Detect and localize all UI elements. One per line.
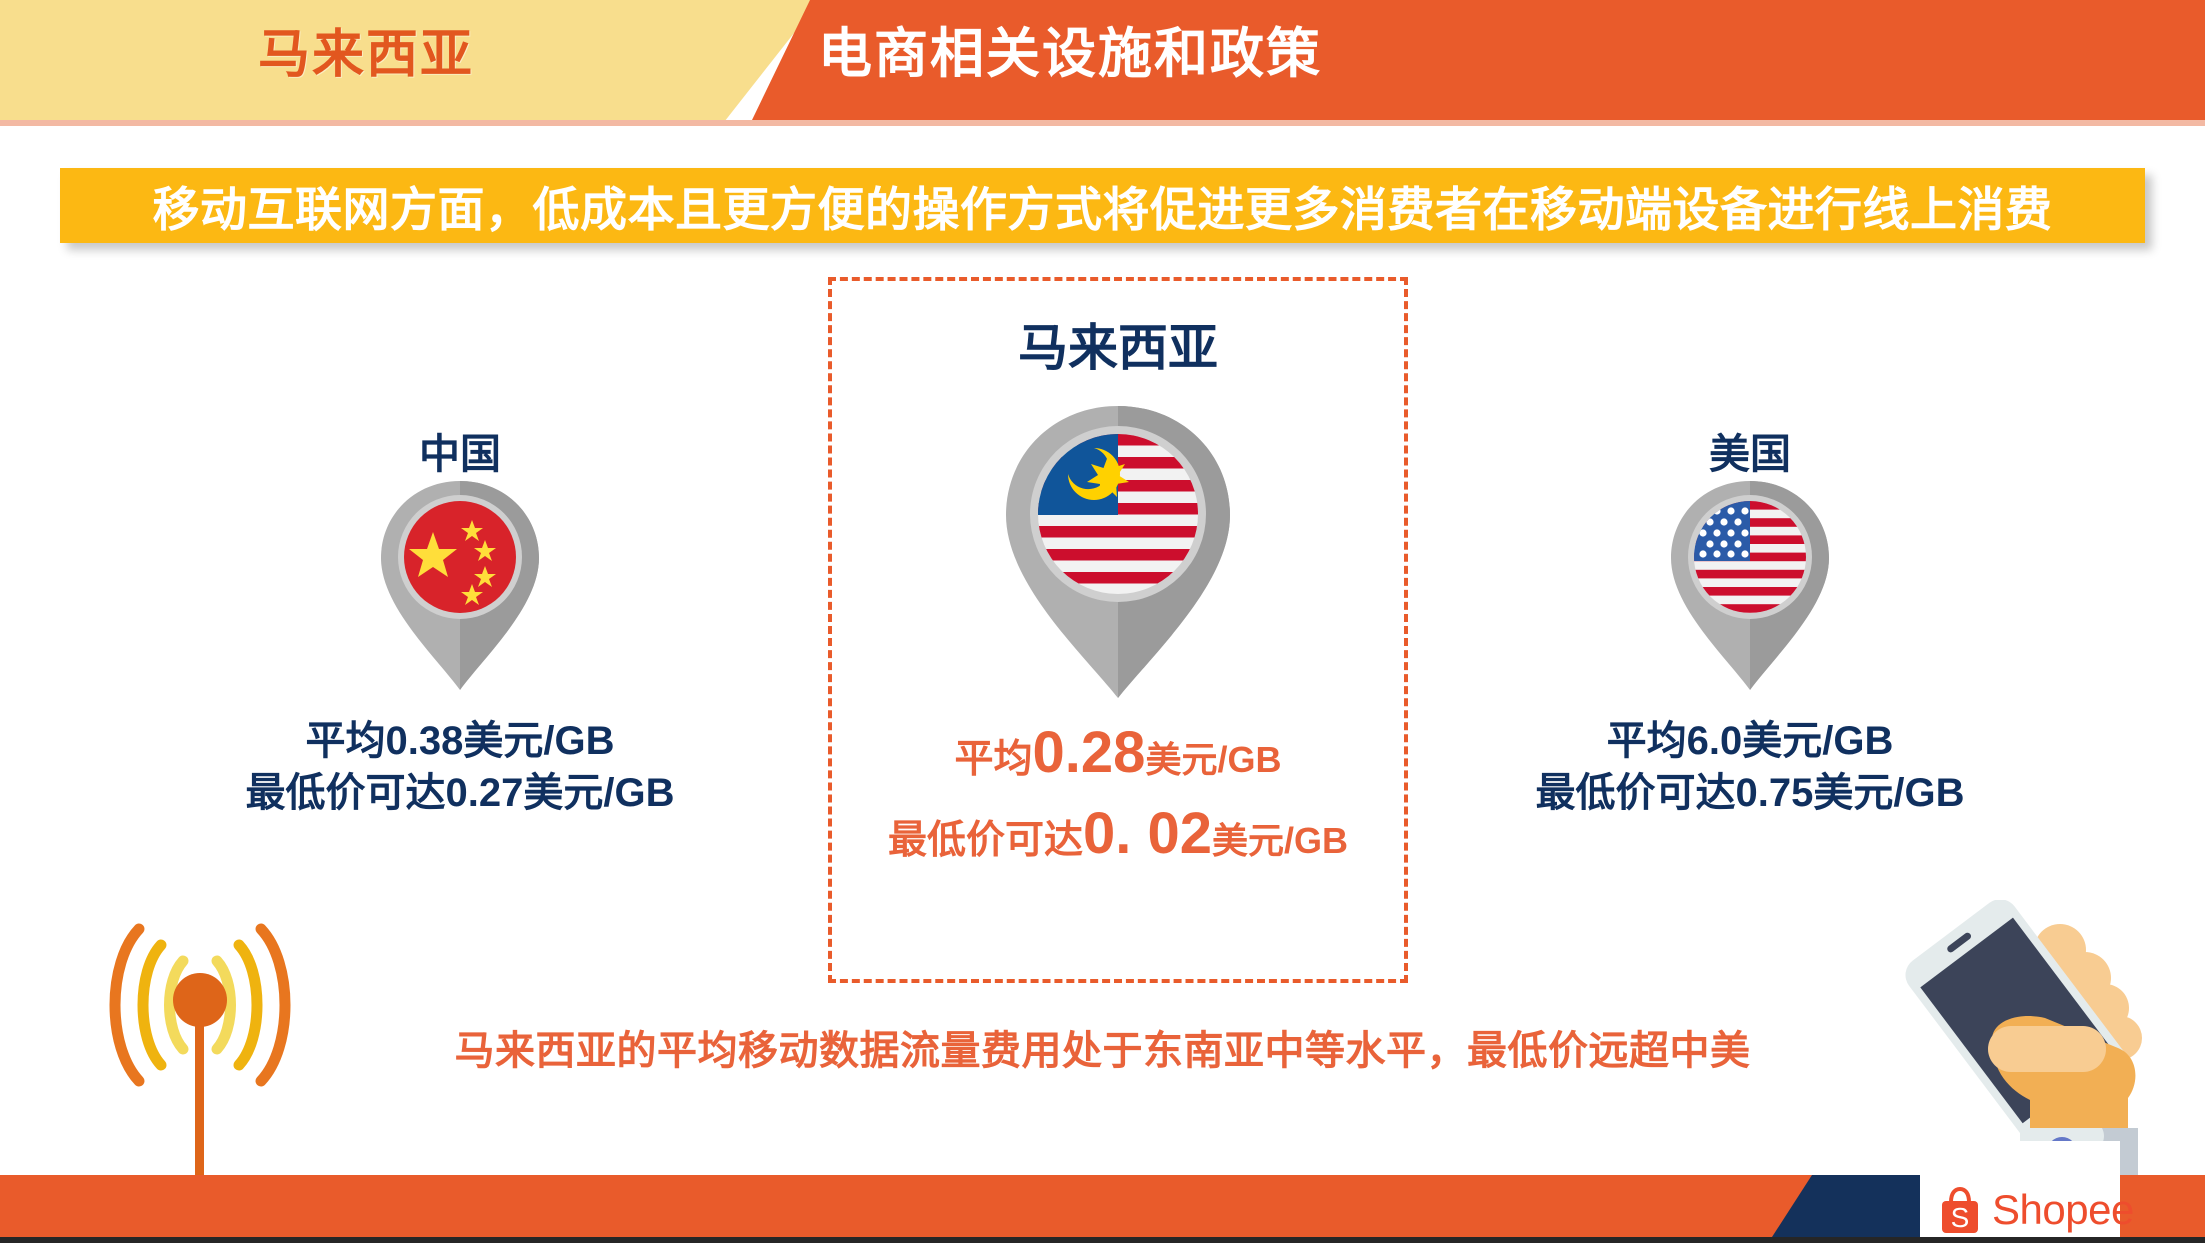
header-underline (0, 120, 2205, 126)
country-name-us: 美国 (1530, 430, 1970, 478)
usa-flag-pin-icon (1530, 478, 1970, 693)
us-average-line: 平均6.0美元/GB (1530, 715, 1970, 767)
slide-header: 马来西亚 电商相关设施和政策 (0, 0, 2205, 120)
header-country-title: 马来西亚 (258, 22, 474, 88)
country-stats-china: 平均0.38美元/GB 最低价可达0.27美元/GB (240, 715, 680, 819)
malaysia-lowest-line: 最低价可达0. 02美元/GB (878, 801, 1358, 882)
shopee-bag-icon: S (1938, 1186, 1982, 1234)
malaysia-lowest-value: 0. 02 (1083, 801, 1212, 866)
slide-root: 马来西亚 电商相关设施和政策 移动互联网方面，低成本且更方便的操作方式将促进更多… (0, 0, 2205, 1243)
china-lowest-line: 最低价可达0.27美元/GB (240, 767, 680, 819)
slide-footer-bar (0, 1175, 2205, 1237)
china-average-line: 平均0.38美元/GB (240, 715, 680, 767)
country-name-china: 中国 (240, 430, 680, 478)
country-column-malaysia: 马来西亚 (878, 318, 1358, 882)
malaysia-average-label: 平均 (955, 738, 1033, 781)
country-column-china: 中国 平均0.38美元/GB 最低价可达0.27美元/GB (240, 430, 680, 819)
svg-text:S: S (1951, 1202, 1970, 1233)
country-name-malaysia: 马来西亚 (878, 318, 1358, 378)
malaysia-average-value: 0.28 (1033, 720, 1146, 785)
hand-holding-phone-icon (1880, 900, 2180, 1180)
malaysia-average-unit: 美元/GB (1145, 739, 1281, 780)
key-message-banner: 移动互联网方面，低成本且更方便的操作方式将促进更多消费者在移动端设备进行线上消费 (60, 168, 2145, 243)
malaysia-lowest-label: 最低价可达 (888, 819, 1083, 862)
malaysia-lowest-unit: 美元/GB (1212, 820, 1348, 861)
country-stats-malaysia: 平均0.28美元/GB 最低价可达0. 02美元/GB (878, 720, 1358, 882)
country-stats-us: 平均6.0美元/GB 最低价可达0.75美元/GB (1530, 715, 1970, 819)
malaysia-flag-pin-icon (878, 378, 1358, 702)
shopee-wordmark: Shopee (1992, 1189, 2134, 1231)
footer-bottom-rule (0, 1237, 2205, 1243)
country-column-us: 美国 (1530, 430, 1970, 819)
shopee-logo: S Shopee (1938, 1186, 2134, 1234)
broadcast-tower-icon (55, 905, 345, 1190)
key-message-text: 移动互联网方面，低成本且更方便的操作方式将促进更多消费者在移动端设备进行线上消费 (153, 171, 2053, 240)
china-flag-pin-icon (240, 478, 680, 693)
us-lowest-line: 最低价可达0.75美元/GB (1530, 767, 1970, 819)
header-section-title: 电商相关设施和政策 (818, 18, 1322, 90)
malaysia-average-line: 平均0.28美元/GB (878, 720, 1358, 801)
